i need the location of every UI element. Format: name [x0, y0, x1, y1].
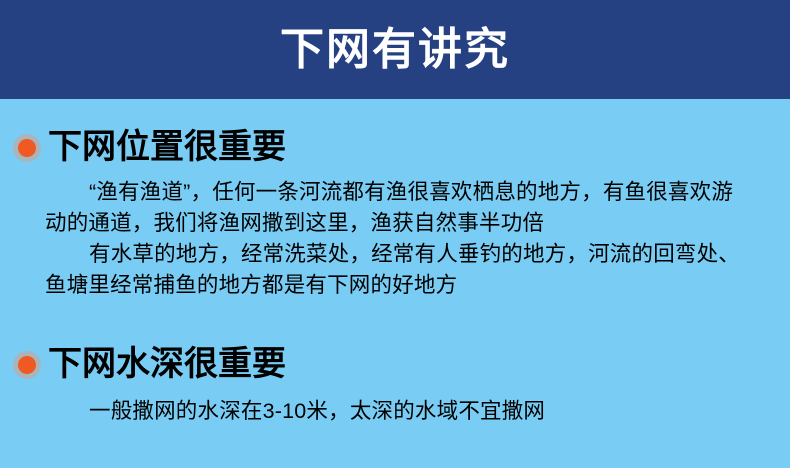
filled-circle-bullet-icon: [13, 351, 41, 379]
section-location: 下网位置很重要 “渔有渔道”，任何一条河流都有渔很喜欢栖息的地方，有鱼很喜欢游动…: [0, 125, 790, 301]
page-title: 下网有讲究: [280, 28, 510, 72]
section-heading-row: 下网水深很重要: [0, 342, 790, 388]
section-body-depth: 一般撒网的水深在3-10米，太深的水域不宜撒网: [0, 396, 790, 427]
content-area: 下网位置很重要 “渔有渔道”，任何一条河流都有渔很喜欢栖息的地方，有鱼很喜欢游动…: [0, 99, 790, 468]
section-heading-row: 下网位置很重要: [0, 125, 790, 171]
paragraph: 一般撒网的水深在3-10米，太深的水域不宜撒网: [45, 396, 746, 427]
section-depth: 下网水深很重要 一般撒网的水深在3-10米，太深的水域不宜撒网: [0, 342, 790, 427]
section-body-location: “渔有渔道”，任何一条河流都有渔很喜欢栖息的地方，有鱼很喜欢游动的通道，我们将渔…: [0, 177, 790, 301]
section-heading-depth: 下网水深很重要: [48, 346, 286, 383]
paragraph: 有水草的地方，经常洗菜处，经常有人垂钓的地方，河流的回弯处、鱼塘里经常捕鱼的地方…: [45, 239, 746, 301]
section-heading-location: 下网位置很重要: [48, 129, 286, 166]
paragraph: “渔有渔道”，任何一条河流都有渔很喜欢栖息的地方，有鱼很喜欢游动的通道，我们将渔…: [45, 177, 746, 239]
filled-circle-bullet-icon: [13, 134, 41, 162]
poster-root: 下网有讲究 下网位置很重要 “渔有渔道”，任何一条河流都有渔很喜欢栖息的地方，有…: [0, 0, 790, 468]
header-bar: 下网有讲究: [0, 0, 790, 99]
